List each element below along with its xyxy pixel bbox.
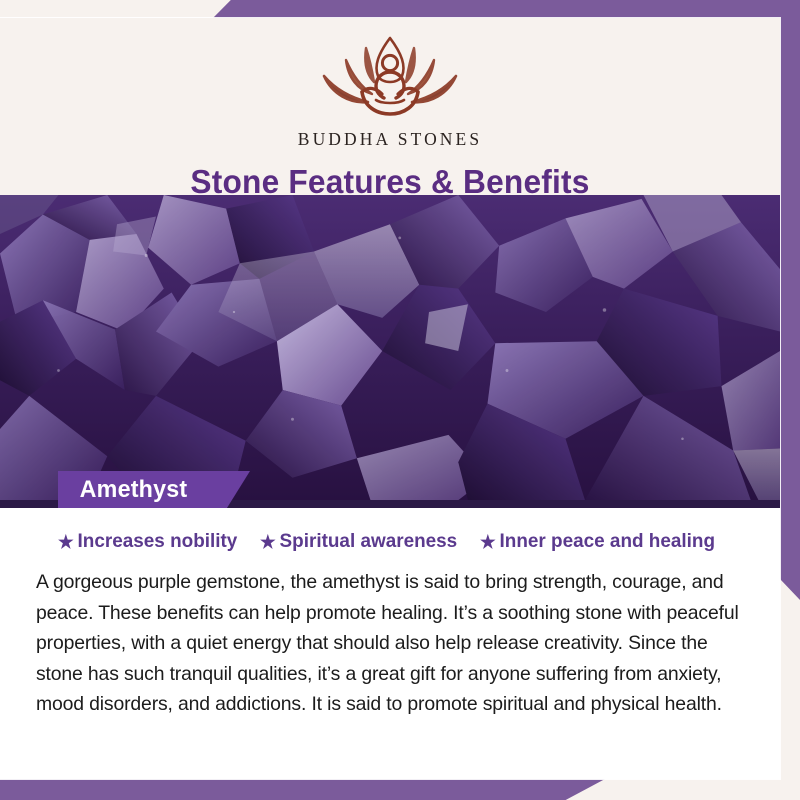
benefits-list: ★ Increases nobility ★ Spiritual awarene… — [36, 530, 748, 553]
benefit-label: Spiritual awareness — [279, 530, 457, 553]
stone-name: Amethyst — [80, 476, 188, 504]
brand-logo: BUDDHA STONES — [298, 32, 482, 150]
amethyst-crystal-cluster-graphic — [0, 195, 780, 500]
benefit-label: Increases nobility — [78, 530, 238, 553]
frame-accent-bottom — [0, 779, 605, 800]
benefit-item: ★ Inner peace and healing — [480, 530, 715, 553]
star-icon: ★ — [260, 533, 276, 551]
frame-accent-right — [780, 0, 800, 600]
infographic-page: BUDDHA STONES Stone Features & Benefits — [0, 0, 800, 800]
star-icon: ★ — [480, 533, 496, 551]
stone-info-panel: ★ Increases nobility ★ Spiritual awarene… — [0, 508, 780, 779]
stone-label-banner: Amethyst — [58, 471, 250, 508]
lotus-meditation-figure-icon — [302, 32, 478, 124]
stone-description: A gorgeous purple gemstone, the amethyst… — [36, 567, 748, 720]
benefit-item: ★ Increases nobility — [58, 530, 237, 553]
star-icon: ★ — [58, 533, 74, 551]
frame-accent-top — [212, 0, 800, 19]
benefit-item: ★ Spiritual awareness — [260, 530, 457, 553]
hero-image: Amethyst — [0, 195, 780, 508]
brand-name: BUDDHA STONES — [298, 129, 482, 150]
benefit-label: Inner peace and healing — [500, 530, 715, 553]
content-card: BUDDHA STONES Stone Features & Benefits — [0, 18, 780, 779]
